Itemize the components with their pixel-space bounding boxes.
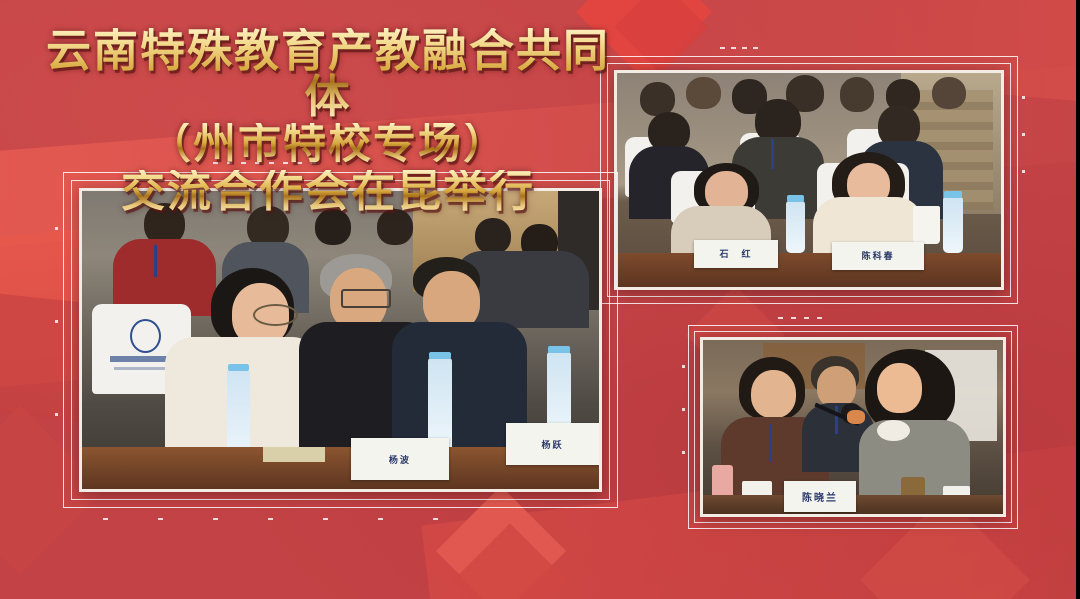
lanyard bbox=[769, 424, 772, 462]
institution-logo-icon bbox=[130, 319, 162, 353]
poster-canvas: 云南特殊教育产教融合共同体 （州市特校专场） 交流合作会在昆举行 bbox=[0, 0, 1080, 599]
nameplate-main-right: 杨跃 bbox=[506, 423, 599, 465]
title-line-2: （州市特校专场） bbox=[28, 123, 628, 167]
person-head bbox=[751, 370, 796, 419]
person-head bbox=[877, 363, 922, 413]
lanyard bbox=[835, 406, 838, 434]
nameplate-left: 石 红 bbox=[694, 240, 778, 268]
person-head bbox=[817, 366, 856, 408]
notebook bbox=[263, 447, 325, 462]
title-line-3: 交流合作会在昆举行 bbox=[28, 170, 628, 215]
eyeglasses-icon bbox=[341, 289, 392, 308]
face-mask bbox=[877, 420, 910, 441]
nameplate-bottom-right: 陈晓兰 bbox=[784, 481, 856, 512]
nameplate-main-left: 杨波 bbox=[351, 438, 449, 480]
hand bbox=[847, 410, 865, 424]
nameplate-right: 陈科春 bbox=[832, 242, 924, 270]
photo-top-right-audience: 石 红 陈科春 bbox=[614, 70, 1004, 290]
water-bottle bbox=[786, 201, 805, 252]
person-head bbox=[475, 218, 511, 254]
institution-logo-text bbox=[110, 356, 173, 362]
paper-cup bbox=[913, 206, 940, 245]
person-head bbox=[932, 77, 967, 109]
photo-bottom-right-speaker: 陈晓兰 bbox=[700, 337, 1006, 517]
lanyard bbox=[771, 139, 774, 169]
photo-frame-top-right: 石 红 陈科春 bbox=[600, 56, 1018, 304]
person-head bbox=[686, 77, 721, 109]
photo-frame-bottom-right: 陈晓兰 bbox=[688, 325, 1018, 529]
photo-frame-main: 杨波 杨跃 bbox=[63, 172, 618, 508]
eyeglasses-icon bbox=[253, 304, 298, 326]
photo-scene: 陈晓兰 bbox=[703, 340, 1003, 514]
water-bottle bbox=[943, 197, 962, 253]
lanyard bbox=[154, 245, 157, 278]
photo-main-audience: 杨波 杨跃 bbox=[79, 188, 602, 492]
conference-desk bbox=[617, 253, 1001, 287]
title-line-1: 云南特殊教育产教融合共同体 bbox=[28, 28, 628, 120]
institution-logo-subtext bbox=[114, 367, 169, 371]
person-head bbox=[640, 82, 675, 116]
poster-title: 云南特殊教育产教融合共同体 （州市特校专场） 交流合作会在昆举行 bbox=[28, 28, 628, 218]
photo-scene: 杨波 杨跃 bbox=[82, 191, 599, 489]
person-head bbox=[840, 77, 875, 111]
photo-scene: 石 红 陈科春 bbox=[617, 73, 1001, 287]
